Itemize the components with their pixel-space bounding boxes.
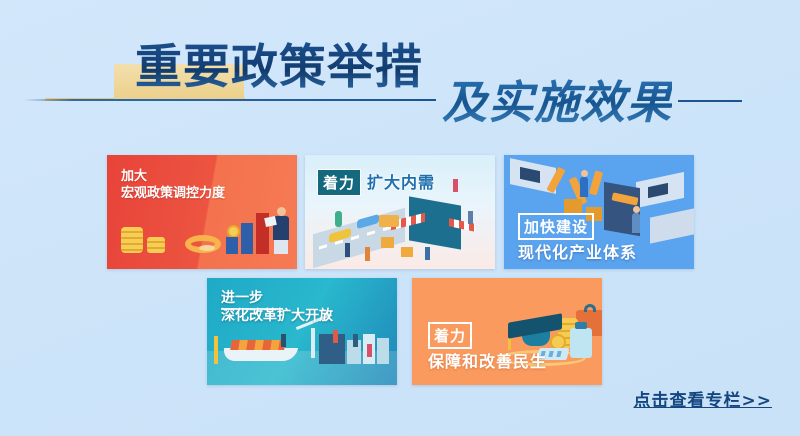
title-trailing-rule: [678, 100, 742, 102]
card-5-caption-main: 保障和改善民生: [428, 348, 547, 372]
coin-stack-icon: [121, 227, 143, 253]
title-underline-rule: [24, 99, 436, 101]
banner-title-block: 重要政策举措 及实施效果: [0, 0, 800, 140]
pedestrian-1: [281, 334, 286, 347]
card-5-caption-badge: 着力: [428, 322, 472, 349]
briefcase-handle: [584, 304, 596, 312]
analyst-head: [277, 207, 286, 216]
tree-icon: [335, 211, 342, 227]
policy-card-macro-regulation[interactable]: 加大 宏观政策调控力度: [107, 155, 297, 269]
crane-mast: [311, 328, 315, 358]
pedestrian-5: [468, 211, 473, 224]
policy-card-modern-industry[interactable]: 加快建设 现代化产业体系: [504, 155, 694, 269]
parcel-box-2: [401, 247, 413, 257]
robot-arm-3: [589, 170, 603, 195]
policy-card-reform-opening[interactable]: 进一步 深化改革扩大开放: [207, 278, 397, 385]
card-3-caption-main: 现代化产业体系: [518, 239, 637, 263]
view-column-link[interactable]: 点击查看专栏>>: [634, 386, 773, 411]
pedestrian-1: [345, 243, 350, 257]
parcel-box-1: [381, 237, 394, 248]
dock-post: [214, 336, 218, 364]
pedestrian-2: [333, 330, 338, 343]
machine-unit-3: [650, 208, 694, 243]
worker-1-head: [581, 170, 588, 177]
pedestrian-3: [425, 247, 430, 260]
worker-1-body: [580, 177, 588, 197]
card-2-caption-main: 扩大内需: [367, 169, 435, 193]
delivery-truck-icon: [379, 215, 399, 227]
pedestrian-3: [353, 334, 358, 347]
coin-stack-small-icon: [147, 237, 165, 253]
page-title-line-2: 及实施效果: [442, 78, 672, 128]
medicine-bottle-icon: [570, 328, 592, 358]
card-3-caption-badge: 加快建设: [518, 213, 594, 240]
pedestrian-2: [365, 247, 370, 261]
policy-card-expand-demand[interactable]: 着力 扩大内需: [305, 155, 495, 269]
pedestrian-4: [367, 344, 372, 357]
building-1: [319, 334, 345, 364]
medicine-bottle-cap: [575, 322, 587, 329]
gold-ring-icon: [185, 235, 221, 253]
bar-chart-bar-1: [226, 237, 238, 254]
card-1-caption: 加大 宏观政策调控力度: [121, 169, 225, 202]
analyst-legs: [274, 240, 288, 254]
worker-2-head: [633, 206, 640, 213]
banner-root: 重要政策举措 及实施效果 加大 宏观政策调控力度: [0, 0, 800, 436]
worker-2-body: [632, 213, 640, 233]
page-title-line-1: 重要政策举措: [135, 42, 423, 94]
policy-card-livelihood[interactable]: 着力 保障和改善民生: [412, 278, 602, 385]
bar-chart-bar-2: [241, 223, 253, 254]
card-4-caption: 进一步 深化改革扩大开放: [221, 290, 333, 326]
cargo-containers: [230, 340, 286, 350]
pedestrian-4: [453, 179, 458, 192]
building-4: [377, 338, 389, 364]
card-2-caption-badge: 着力: [317, 169, 361, 196]
